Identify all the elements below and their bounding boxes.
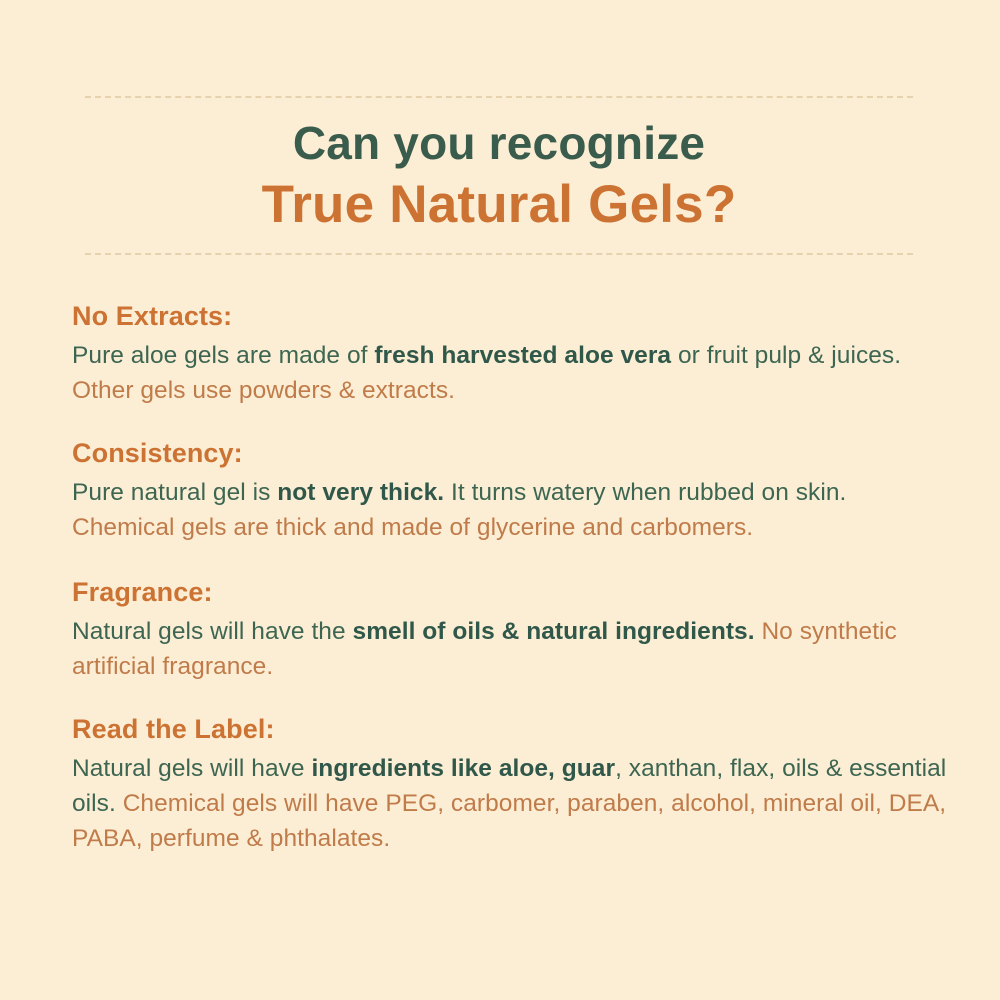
title-line-1: Can you recognize [85, 116, 913, 170]
section-2: Consistency:Pure natural gel is not very… [72, 437, 948, 546]
text-run: or fruit pulp & juices. [671, 342, 901, 369]
section-heading: No Extracts: [72, 300, 948, 332]
text-run: not very thick. [277, 479, 444, 506]
section-heading: Fragrance: [72, 576, 948, 608]
text-run: fresh harvested aloe vera [374, 342, 671, 369]
section-4: Read the Label:Natural gels will have in… [72, 713, 948, 857]
divider-bottom [85, 253, 913, 255]
infographic-poster: Can you recognize True Natural Gels? No … [0, 0, 1000, 1000]
text-run: guar [562, 755, 615, 782]
header-block: Can you recognize True Natural Gels? [85, 96, 913, 255]
section-body: Pure aloe gels are made of fresh harvest… [72, 339, 948, 409]
section-3: Fragrance:Natural gels will have the sme… [72, 576, 948, 685]
text-run [555, 755, 562, 782]
section-body: Natural gels will have ingredients like … [72, 752, 948, 856]
text-run: Chemical gels will have PEG, carbomer, p… [72, 790, 946, 852]
text-run: Natural gels will have [72, 755, 311, 782]
text-run: It turns watery when rubbed on skin. [444, 479, 846, 506]
text-run: Natural gels will have the [72, 618, 353, 645]
text-run: Pure aloe gels are made of [72, 342, 374, 369]
section-body: Pure natural gel is not very thick. It t… [72, 476, 948, 546]
text-run: Chemical gels are thick and made of glyc… [72, 514, 753, 541]
section-heading: Read the Label: [72, 713, 948, 745]
text-run: Pure natural gel is [72, 479, 277, 506]
section-heading: Consistency: [72, 437, 948, 469]
text-run: smell of oils & natural ingredients. [353, 618, 755, 645]
text-run: Other gels use powders & extracts. [72, 377, 455, 404]
page-title: Can you recognize True Natural Gels? [85, 98, 913, 253]
title-line-2: True Natural Gels? [85, 174, 913, 237]
section-list: No Extracts:Pure aloe gels are made of f… [72, 300, 948, 857]
text-run: ingredients like aloe, [311, 755, 554, 782]
section-body: Natural gels will have the smell of oils… [72, 615, 948, 685]
section-1: No Extracts:Pure aloe gels are made of f… [72, 300, 948, 409]
